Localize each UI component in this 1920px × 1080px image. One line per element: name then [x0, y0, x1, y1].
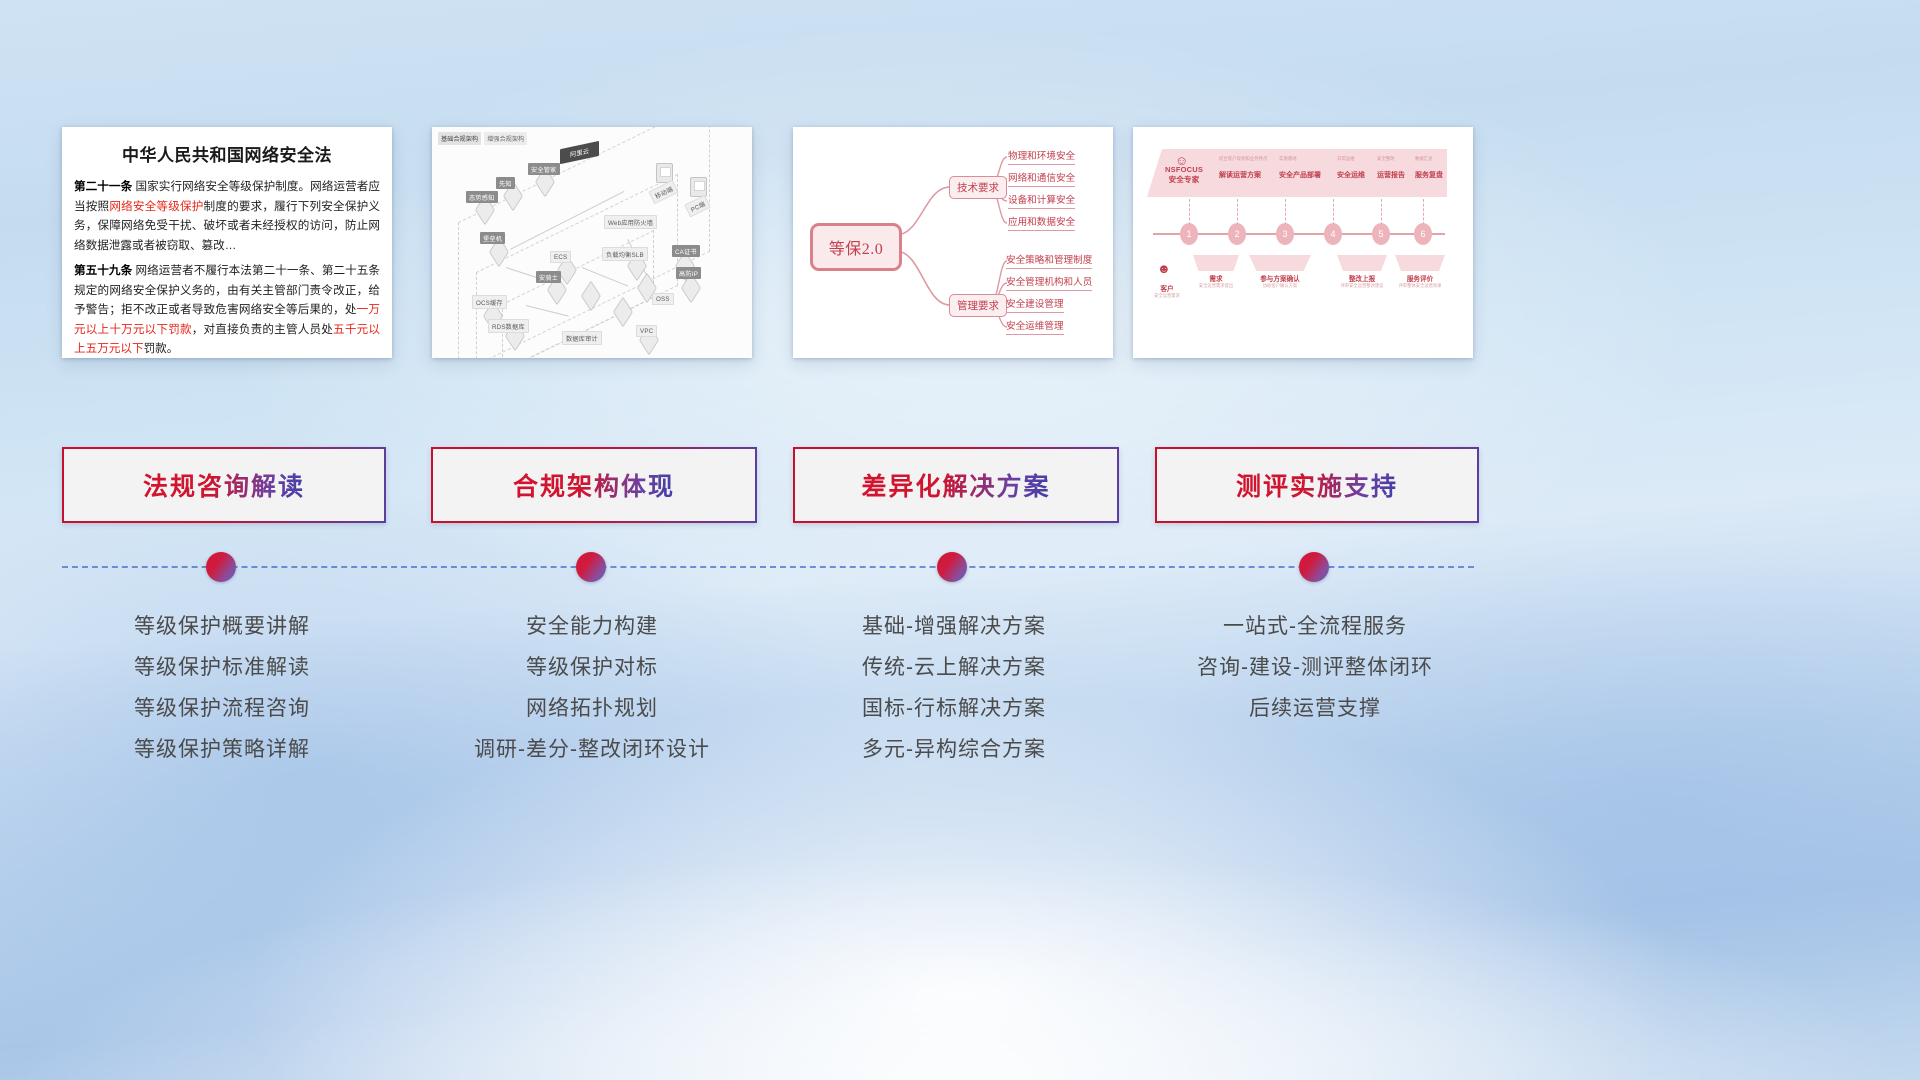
customer-label: 客户 [1149, 283, 1185, 293]
node-cube-9 [582, 287, 604, 301]
bottom-sub-2: 协助客户确认方案 [1243, 283, 1317, 289]
pillar-item-3-4: 多元-异构综合方案 [773, 729, 1135, 770]
pillar-items-3: 基础-增强解决方案 传统-云上解决方案 国标-行标解决方案 多元-异构综合方案 [773, 606, 1135, 770]
law-document: 中华人民共和国网络安全法 第二十一条 国家实行网络安全等级保护制度。网络运营者应… [62, 127, 392, 358]
bottom-sub-4: 评审整体安全运营效果 [1387, 283, 1453, 289]
bottom-sub-3: 评审安全运营整改建议 [1329, 283, 1395, 289]
node-cube-4 [490, 243, 512, 257]
pillar-item-4-1: 一站式-全流程服务 [1135, 606, 1495, 647]
ribbon-sub-5: 数据汇总 [1415, 156, 1433, 162]
customer-person-icon: ☻ [1157, 262, 1171, 275]
pillar-headline-2: 合规架构体现 [513, 467, 675, 503]
pillar-headline-box-3[interactable]: 差异化解决方案 [793, 447, 1119, 523]
mindmap-leaf-mgmt-3: 安全建设管理 [1006, 296, 1064, 313]
pillar-item-1-3: 等级保护流程咨询 [42, 688, 402, 729]
law-paragraph-1: 第二十一条 国家实行网络安全等级保护制度。网络运营者应当按照网络安全等级保护制度… [74, 177, 380, 255]
pillar-item-1-1: 等级保护概要讲解 [42, 606, 402, 647]
ribbon-item-4: 运营报告 [1377, 170, 1405, 180]
bottom-label-2: 参与方案确认 [1249, 273, 1311, 283]
process-dash-3 [1285, 199, 1286, 225]
bottom-label-1: 需求 [1193, 273, 1239, 283]
process-step-1: 1 [1180, 223, 1198, 245]
law-seg-1-1: 网络安全等级保护 [109, 200, 203, 213]
process-dash-5 [1381, 199, 1382, 225]
pillar-item-2-4: 调研-差分-整改闭环设计 [411, 729, 773, 770]
law-title: 中华人民共和国网络安全法 [74, 141, 380, 166]
timeline-dashed-line [62, 566, 1474, 568]
pillar-item-4-2: 咨询-建设-测评整体闭环 [1135, 647, 1495, 688]
node-label-ca: CA证书 [672, 245, 700, 257]
ribbon-sub-1: 结合客户现状和业务特点 [1219, 156, 1267, 162]
brand-subtitle: 安全专家 [1165, 175, 1203, 185]
process-dash-2 [1237, 199, 1238, 225]
thumbnail-row: 中华人民共和国网络安全法 第二十一条 国家实行网络安全等级保护制度。网络运营者应… [0, 0, 1920, 1080]
pillar-item-4-3: 后续运营支撑 [1135, 688, 1495, 729]
thumbnail-mindmap-card[interactable]: 等保2.0 技术要求 管理要求 物理和环境安全 网络和通信安全 设备和计算安全 … [793, 127, 1113, 358]
ribbon-sub-3: 日常运维 [1337, 156, 1355, 162]
pillar-items-1: 等级保护概要讲解 等级保护标准解读 等级保护流程咨询 等级保护策略详解 [42, 606, 402, 770]
mindmap-leaf-tech-3: 设备和计算安全 [1008, 192, 1075, 209]
node-cube-11 [638, 279, 660, 293]
mindmap-leaf-mgmt-2: 安全管理机构和人员 [1006, 274, 1092, 291]
node-label-security-butler: 安全管家 [528, 163, 560, 175]
process-ribbon: ☺ NSFOCUS 安全专家 结合客户现状和业务特点 解读运营方案 实施落地 安… [1147, 149, 1447, 197]
node-cube-3 [536, 173, 558, 187]
node-label-slb: 负载均衡SLB [602, 247, 648, 261]
bottom-block-2 [1249, 255, 1311, 271]
brand-block: NSFOCUS 安全专家 [1165, 165, 1203, 184]
node-label-oss: OSS [652, 293, 674, 305]
node-cube-2 [504, 187, 526, 201]
pillar-item-1-4: 等级保护策略详解 [42, 729, 402, 770]
pillar-items-2: 安全能力构建 等级保护对标 网络拓扑规划 调研-差分-整改闭环设计 [411, 606, 773, 770]
node-label-rds: RDS数据库 [488, 319, 529, 333]
law-seg-2-2: ，对直接负责的主管人员处 [192, 323, 333, 336]
pillar-item-3-2: 传统-云上解决方案 [773, 647, 1135, 688]
node-cube-6 [548, 281, 570, 295]
pillar-headline-1: 法规咨询解读 [143, 467, 305, 503]
process-step-3: 3 [1276, 223, 1294, 245]
mindmap-leaf-mgmt-1: 安全策略和管理制度 [1006, 252, 1092, 269]
node-cube-5 [558, 261, 580, 275]
bottom-label-4: 服务评价 [1395, 273, 1445, 283]
pillar-headline-3: 差异化解决方案 [861, 467, 1050, 503]
brand-name: NSFOCUS [1165, 165, 1203, 175]
law-paragraph-2: 第五十九条 网络运营者不履行本法第二十一条、第二十五条规定的网络安全保护义务的，… [74, 261, 380, 358]
pillar-headline-box-1[interactable]: 法规咨询解读 [62, 447, 386, 523]
pillar-item-1-2: 等级保护标准解读 [42, 647, 402, 688]
ribbon-item-1: 解读运营方案 [1219, 170, 1261, 180]
bottom-sub-1: 安全运营需求提出 [1185, 283, 1247, 289]
thumbnail-process-card[interactable]: ☺ NSFOCUS 安全专家 结合客户现状和业务特点 解读运营方案 实施落地 安… [1133, 127, 1473, 358]
node-label-ecs: ECS [550, 251, 571, 263]
process-step-6: 6 [1414, 223, 1432, 245]
architecture-tabs[interactable]: 基础合规架构 增强合规架构 [438, 132, 527, 145]
mindmap-leaf-tech-2: 网络和通信安全 [1008, 170, 1075, 187]
tab-enhanced-architecture[interactable]: 增强合规架构 [484, 132, 527, 145]
pillar-headline-box-2[interactable]: 合规架构体现 [431, 447, 757, 523]
process-dash-4 [1333, 199, 1334, 225]
ribbon-item-3: 安全运维 [1337, 170, 1365, 180]
ribbon-sub-4: 安全整改 [1377, 156, 1395, 162]
process-step-5: 5 [1372, 223, 1390, 245]
mindmap-leaf-mgmt-4: 安全运维管理 [1006, 318, 1064, 335]
law-article-number-1: 第二十一条 [74, 180, 132, 193]
pillar-item-2-3: 网络拓扑规划 [411, 688, 773, 729]
pillar-items-4: 一站式-全流程服务 咨询-建设-测评整体闭环 后续运营支撑 [1135, 606, 1495, 729]
node-label-bastion: 堡垒机 [480, 232, 505, 244]
timeline-dot-2[interactable] [576, 552, 606, 582]
node-label-vpc: VPC [636, 325, 657, 337]
timeline-dot-1[interactable] [206, 552, 236, 582]
ribbon-item-5: 服务复盘 [1415, 170, 1443, 180]
thumbnail-architecture-card[interactable]: 基础合规架构 增强合规架构 [432, 127, 752, 358]
node-label-anqishi: 安骑士 [536, 271, 561, 283]
mindmap-branch-technical: 技术要求 [949, 176, 1007, 199]
process-step-2: 2 [1228, 223, 1246, 245]
node-label-antiddos: 高防IP [676, 267, 701, 279]
bottom-block-1 [1193, 255, 1239, 271]
pillar-item-3-1: 基础-增强解决方案 [773, 606, 1135, 647]
pillar-item-2-2: 等级保护对标 [411, 647, 773, 688]
ribbon-sub-2: 实施落地 [1279, 156, 1297, 162]
architecture-diagram: 基础合规架构 增强合规架构 [432, 127, 752, 358]
timeline-dot-3[interactable] [937, 552, 967, 582]
node-cube-10 [614, 303, 636, 317]
bottom-block-3 [1337, 255, 1387, 271]
process-dash-1 [1189, 199, 1190, 225]
pillar-headline-box-4[interactable]: 测评实施支持 [1155, 447, 1479, 523]
mindmap-leaf-tech-1: 物理和环境安全 [1008, 148, 1075, 165]
bottom-label-3: 整改上报 [1337, 273, 1387, 283]
law-article-number-2: 第五十九条 [74, 264, 132, 277]
mindmap-diagram: 等保2.0 技术要求 管理要求 物理和环境安全 网络和通信安全 设备和计算安全 … [793, 127, 1113, 358]
process-step-4: 4 [1324, 223, 1342, 245]
pillar-headline-4: 测评实施支持 [1236, 467, 1398, 503]
customer-sublabel: 安全运营需求 [1141, 293, 1193, 299]
node-label-db-audit: 数据库审计 [562, 331, 602, 345]
node-label-waf: Web应用防火墙 [604, 215, 657, 229]
node-cube-15 [682, 279, 704, 293]
mindmap-branch-management: 管理要求 [949, 294, 1007, 317]
node-label-xianzhi: 先知 [496, 177, 515, 189]
node-cube-1 [476, 201, 498, 215]
node-label-ocs: OCS缓存 [472, 295, 507, 309]
pillar-item-2-1: 安全能力构建 [411, 606, 773, 647]
pillar-item-3-3: 国标-行标解决方案 [773, 688, 1135, 729]
law-seg-2-4: 罚款。 [144, 342, 179, 355]
mindmap-leaf-tech-4: 应用和数据安全 [1008, 214, 1075, 231]
thumbnail-law-card[interactable]: 中华人民共和国网络安全法 第二十一条 国家实行网络安全等级保护制度。网络运营者应… [62, 127, 392, 358]
bottom-block-4 [1395, 255, 1445, 271]
tab-basic-architecture[interactable]: 基础合规架构 [438, 132, 481, 145]
process-diagram: ☺ NSFOCUS 安全专家 结合客户现状和业务特点 解读运营方案 实施落地 安… [1133, 127, 1473, 358]
ribbon-item-2: 安全产品部署 [1279, 170, 1321, 180]
process-dash-6 [1423, 199, 1424, 225]
node-label-situational: 态势感知 [466, 191, 498, 203]
mindmap-root-node: 等保2.0 [810, 223, 902, 271]
timeline-dot-4[interactable] [1299, 552, 1329, 582]
